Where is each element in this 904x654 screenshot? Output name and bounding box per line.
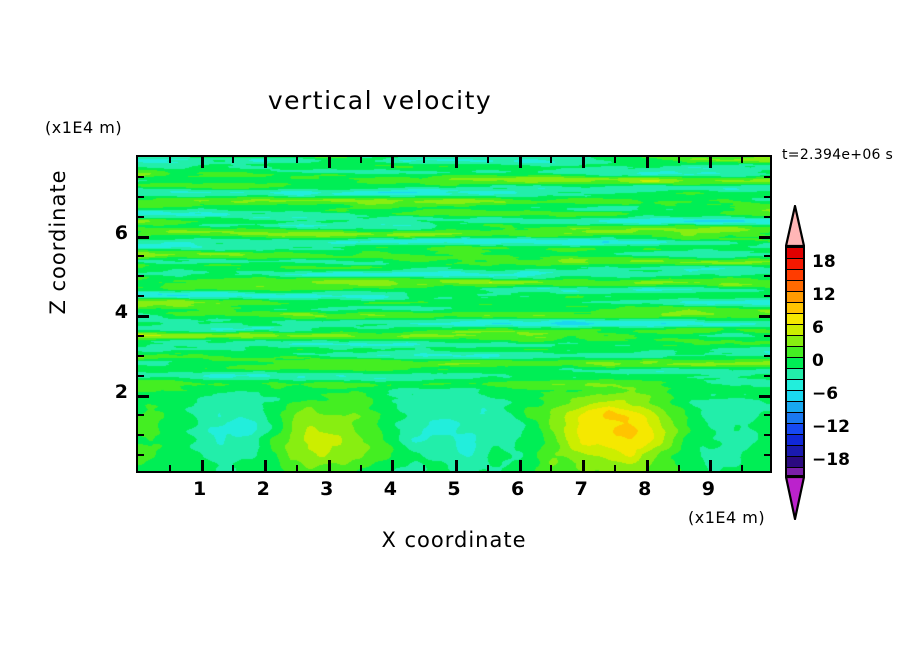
y-tick-mark [764, 196, 770, 198]
x-tick-mark [614, 157, 616, 163]
y-tick-mark [764, 176, 770, 178]
y-tick-mark [138, 355, 144, 357]
x-tick-label: 3 [307, 478, 347, 500]
x-tick-mark [360, 157, 362, 163]
colorbar-band [787, 336, 803, 347]
contour-plot-area [136, 155, 772, 473]
x-tick-mark [328, 157, 331, 168]
x-tick-mark [201, 460, 204, 471]
x-tick-mark [423, 157, 425, 163]
colorbar-band [787, 347, 803, 358]
x-tick-mark [360, 465, 362, 471]
x-axis-title: X coordinate [136, 528, 772, 552]
colorbar-band [787, 435, 803, 446]
x-tick-label: 8 [625, 478, 665, 500]
x-tick-mark [296, 157, 298, 163]
y-tick-mark [138, 255, 144, 257]
x-tick-mark [487, 465, 489, 471]
x-tick-mark [391, 157, 394, 168]
x-tick-mark [582, 460, 585, 471]
y-tick-label: 2 [88, 381, 128, 403]
x-tick-mark [487, 157, 489, 163]
y-tick-mark [764, 216, 770, 218]
y-tick-mark [138, 454, 144, 456]
colorbar-tick-label: −6 [812, 384, 838, 404]
y-tick-mark [764, 375, 770, 377]
colorbar-band [787, 369, 803, 380]
y-tick-mark [138, 176, 144, 178]
colorbar-band [787, 457, 803, 468]
y-tick-label: 6 [88, 222, 128, 244]
x-tick-label: 9 [688, 478, 728, 500]
colorbar-tick-label: 12 [812, 285, 836, 305]
colorbar-band [787, 446, 803, 457]
colorbar-band [787, 391, 803, 402]
page-title: vertical velocity [0, 86, 760, 115]
x-tick-mark [264, 157, 267, 168]
colorbar-over-arrow [785, 205, 805, 247]
x-tick-label: 2 [243, 478, 283, 500]
x-tick-mark [519, 157, 522, 168]
y-tick-mark [138, 395, 149, 398]
colorbar-tick-label: 0 [812, 351, 824, 371]
colorbar-band [787, 270, 803, 281]
x-tick-mark [296, 465, 298, 471]
y-tick-mark [759, 315, 770, 318]
x-tick-mark [550, 465, 552, 471]
y-tick-mark [764, 335, 770, 337]
x-tick-mark [328, 460, 331, 471]
y-axis-title: Z coordinate [46, 132, 70, 352]
x-tick-mark [232, 157, 234, 163]
y-tick-mark [759, 395, 770, 398]
colorbar-band [787, 325, 803, 336]
x-tick-mark [264, 460, 267, 471]
x-tick-mark [646, 157, 649, 168]
x-tick-mark [391, 460, 394, 471]
y-tick-mark [138, 275, 144, 277]
x-tick-mark [709, 157, 712, 168]
colorbar-band [787, 248, 803, 259]
y-tick-mark [138, 414, 144, 416]
x-tick-mark [550, 157, 552, 163]
colorbar-tick-label: −12 [812, 417, 850, 437]
colorbar-band [787, 380, 803, 391]
x-tick-label: 5 [434, 478, 474, 500]
y-tick-mark [764, 295, 770, 297]
x-tick-mark [741, 157, 743, 163]
x-tick-label: 1 [180, 478, 220, 500]
time-annotation: t=2.394e+06 s [782, 147, 893, 163]
y-tick-mark [138, 434, 144, 436]
x-tick-mark [423, 465, 425, 471]
colorbar-band [787, 259, 803, 270]
y-tick-mark [764, 355, 770, 357]
x-tick-mark [582, 157, 585, 168]
y-tick-mark [138, 236, 149, 239]
colorbar-band [787, 424, 803, 435]
y-tick-mark [764, 434, 770, 436]
y-tick-mark [138, 335, 144, 337]
x-tick-mark [709, 460, 712, 471]
y-tick-label: 4 [88, 301, 128, 323]
x-tick-mark [741, 465, 743, 471]
colorbar-band [787, 281, 803, 292]
colorbar-band [787, 303, 803, 314]
colorbar-bands [785, 246, 805, 477]
colorbar-band [787, 413, 803, 424]
x-tick-mark [646, 460, 649, 471]
y-tick-mark [138, 315, 149, 318]
x-tick-mark [678, 157, 680, 163]
x-tick-mark [455, 157, 458, 168]
x-tick-mark [614, 465, 616, 471]
x-tick-mark [678, 465, 680, 471]
colorbar-band [787, 358, 803, 369]
x-tick-mark [201, 157, 204, 168]
y-tick-mark [764, 275, 770, 277]
y-tick-mark [138, 196, 144, 198]
colorbar-band [787, 314, 803, 325]
x-tick-mark [232, 465, 234, 471]
velocity-field-canvas [138, 157, 770, 471]
y-tick-mark [138, 295, 144, 297]
x-tick-mark [519, 460, 522, 471]
colorbar-band [787, 402, 803, 413]
x-tick-label: 6 [498, 478, 538, 500]
colorbar-band [787, 292, 803, 303]
y-tick-mark [138, 375, 144, 377]
colorbar-tick-label: 6 [812, 318, 824, 338]
x-tick-label: 7 [561, 478, 601, 500]
y-tick-mark [764, 454, 770, 456]
y-tick-mark [759, 236, 770, 239]
colorbar-tick-label: −18 [812, 450, 850, 470]
y-tick-mark [764, 255, 770, 257]
x-tick-label: 4 [370, 478, 410, 500]
y-tick-mark [138, 216, 144, 218]
x-axis-units-label: (x1E4 m) [688, 508, 765, 527]
colorbar-under-arrow [785, 476, 805, 520]
colorbar-tick-label: 18 [812, 252, 836, 272]
x-tick-mark [169, 157, 171, 163]
y-tick-mark [764, 414, 770, 416]
x-tick-mark [169, 465, 171, 471]
x-tick-mark [455, 460, 458, 471]
